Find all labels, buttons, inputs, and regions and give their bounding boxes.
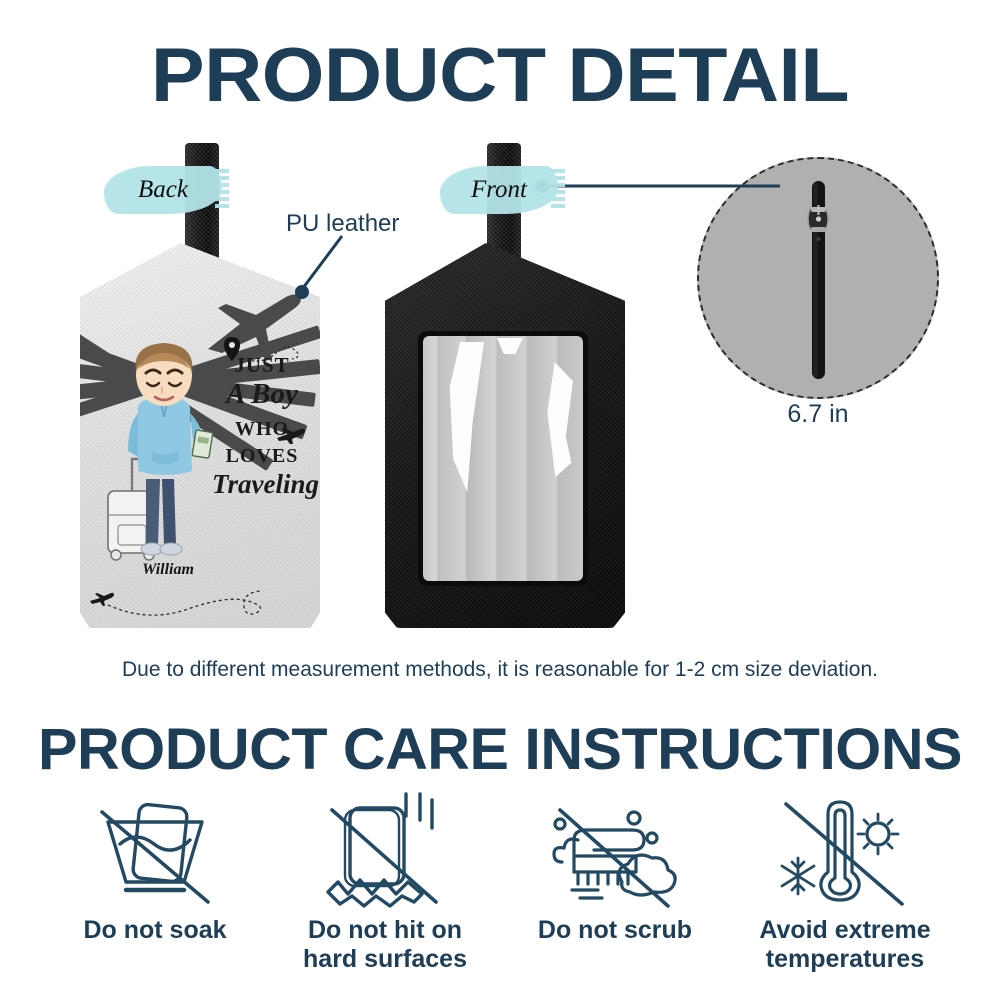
care-label-avoid-temperature: Avoid extremetemperatures xyxy=(759,916,930,974)
product-detail-infographic: PRODUCT DETAIL xyxy=(0,0,1000,1000)
luggage-strap-buckle-icon xyxy=(798,179,838,384)
care-item-do-not-scrub: Do not scrub xyxy=(500,790,730,945)
label-front: Front xyxy=(440,166,558,214)
care-label-do-not-scrub: Do not scrub xyxy=(538,916,692,945)
detail-circle-caption: 6.7 in xyxy=(697,400,939,429)
label-back: Back xyxy=(104,166,222,214)
care-label-do-not-hit: Do not hit onhard surfaces xyxy=(303,916,467,974)
callout-pu-leather: PU leather xyxy=(286,210,399,238)
slogan-line-5: Traveling xyxy=(212,471,312,498)
do-not-hit-icon xyxy=(310,790,460,910)
label-front-text: Front xyxy=(471,176,527,204)
page-title: PRODUCT DETAIL xyxy=(0,32,1000,119)
slogan-line-2: A Boy xyxy=(212,380,312,409)
slogan-line-4: LOVES xyxy=(212,446,312,466)
id-card-window xyxy=(418,331,588,586)
front-detail-leader-line xyxy=(535,178,805,202)
tag-front-body xyxy=(385,243,625,628)
care-instructions-title: PRODUCT CARE INSTRUCTIONS xyxy=(0,716,1000,783)
care-instructions-row: Do not soak Do not hit onhard surfaces xyxy=(40,790,960,990)
care-label-do-not-soak: Do not soak xyxy=(83,916,226,945)
personalized-name: William xyxy=(108,561,228,579)
luggage-tag-front xyxy=(385,243,625,628)
do-not-scrub-icon xyxy=(540,790,690,910)
size-deviation-disclaimer: Due to different measurement methods, it… xyxy=(0,658,1000,682)
care-item-do-not-soak: Do not soak xyxy=(40,790,270,945)
pu-leather-leader-line xyxy=(280,230,360,310)
dotted-flight-path xyxy=(88,583,303,623)
slogan-line-3: WHO xyxy=(212,419,312,439)
boy-character-with-suitcase xyxy=(102,339,222,569)
slogan-line-1: JUST xyxy=(212,355,312,376)
care-item-do-not-hit: Do not hit onhard surfaces xyxy=(270,790,500,974)
do-not-soak-icon xyxy=(80,790,230,910)
avoid-temperature-icon xyxy=(770,790,920,910)
care-item-avoid-temperature: Avoid extremetemperatures xyxy=(730,790,960,974)
tag-back-slogan: JUST A Boy WHO LOVES Traveling xyxy=(212,355,312,498)
label-back-text: Back xyxy=(138,176,188,204)
